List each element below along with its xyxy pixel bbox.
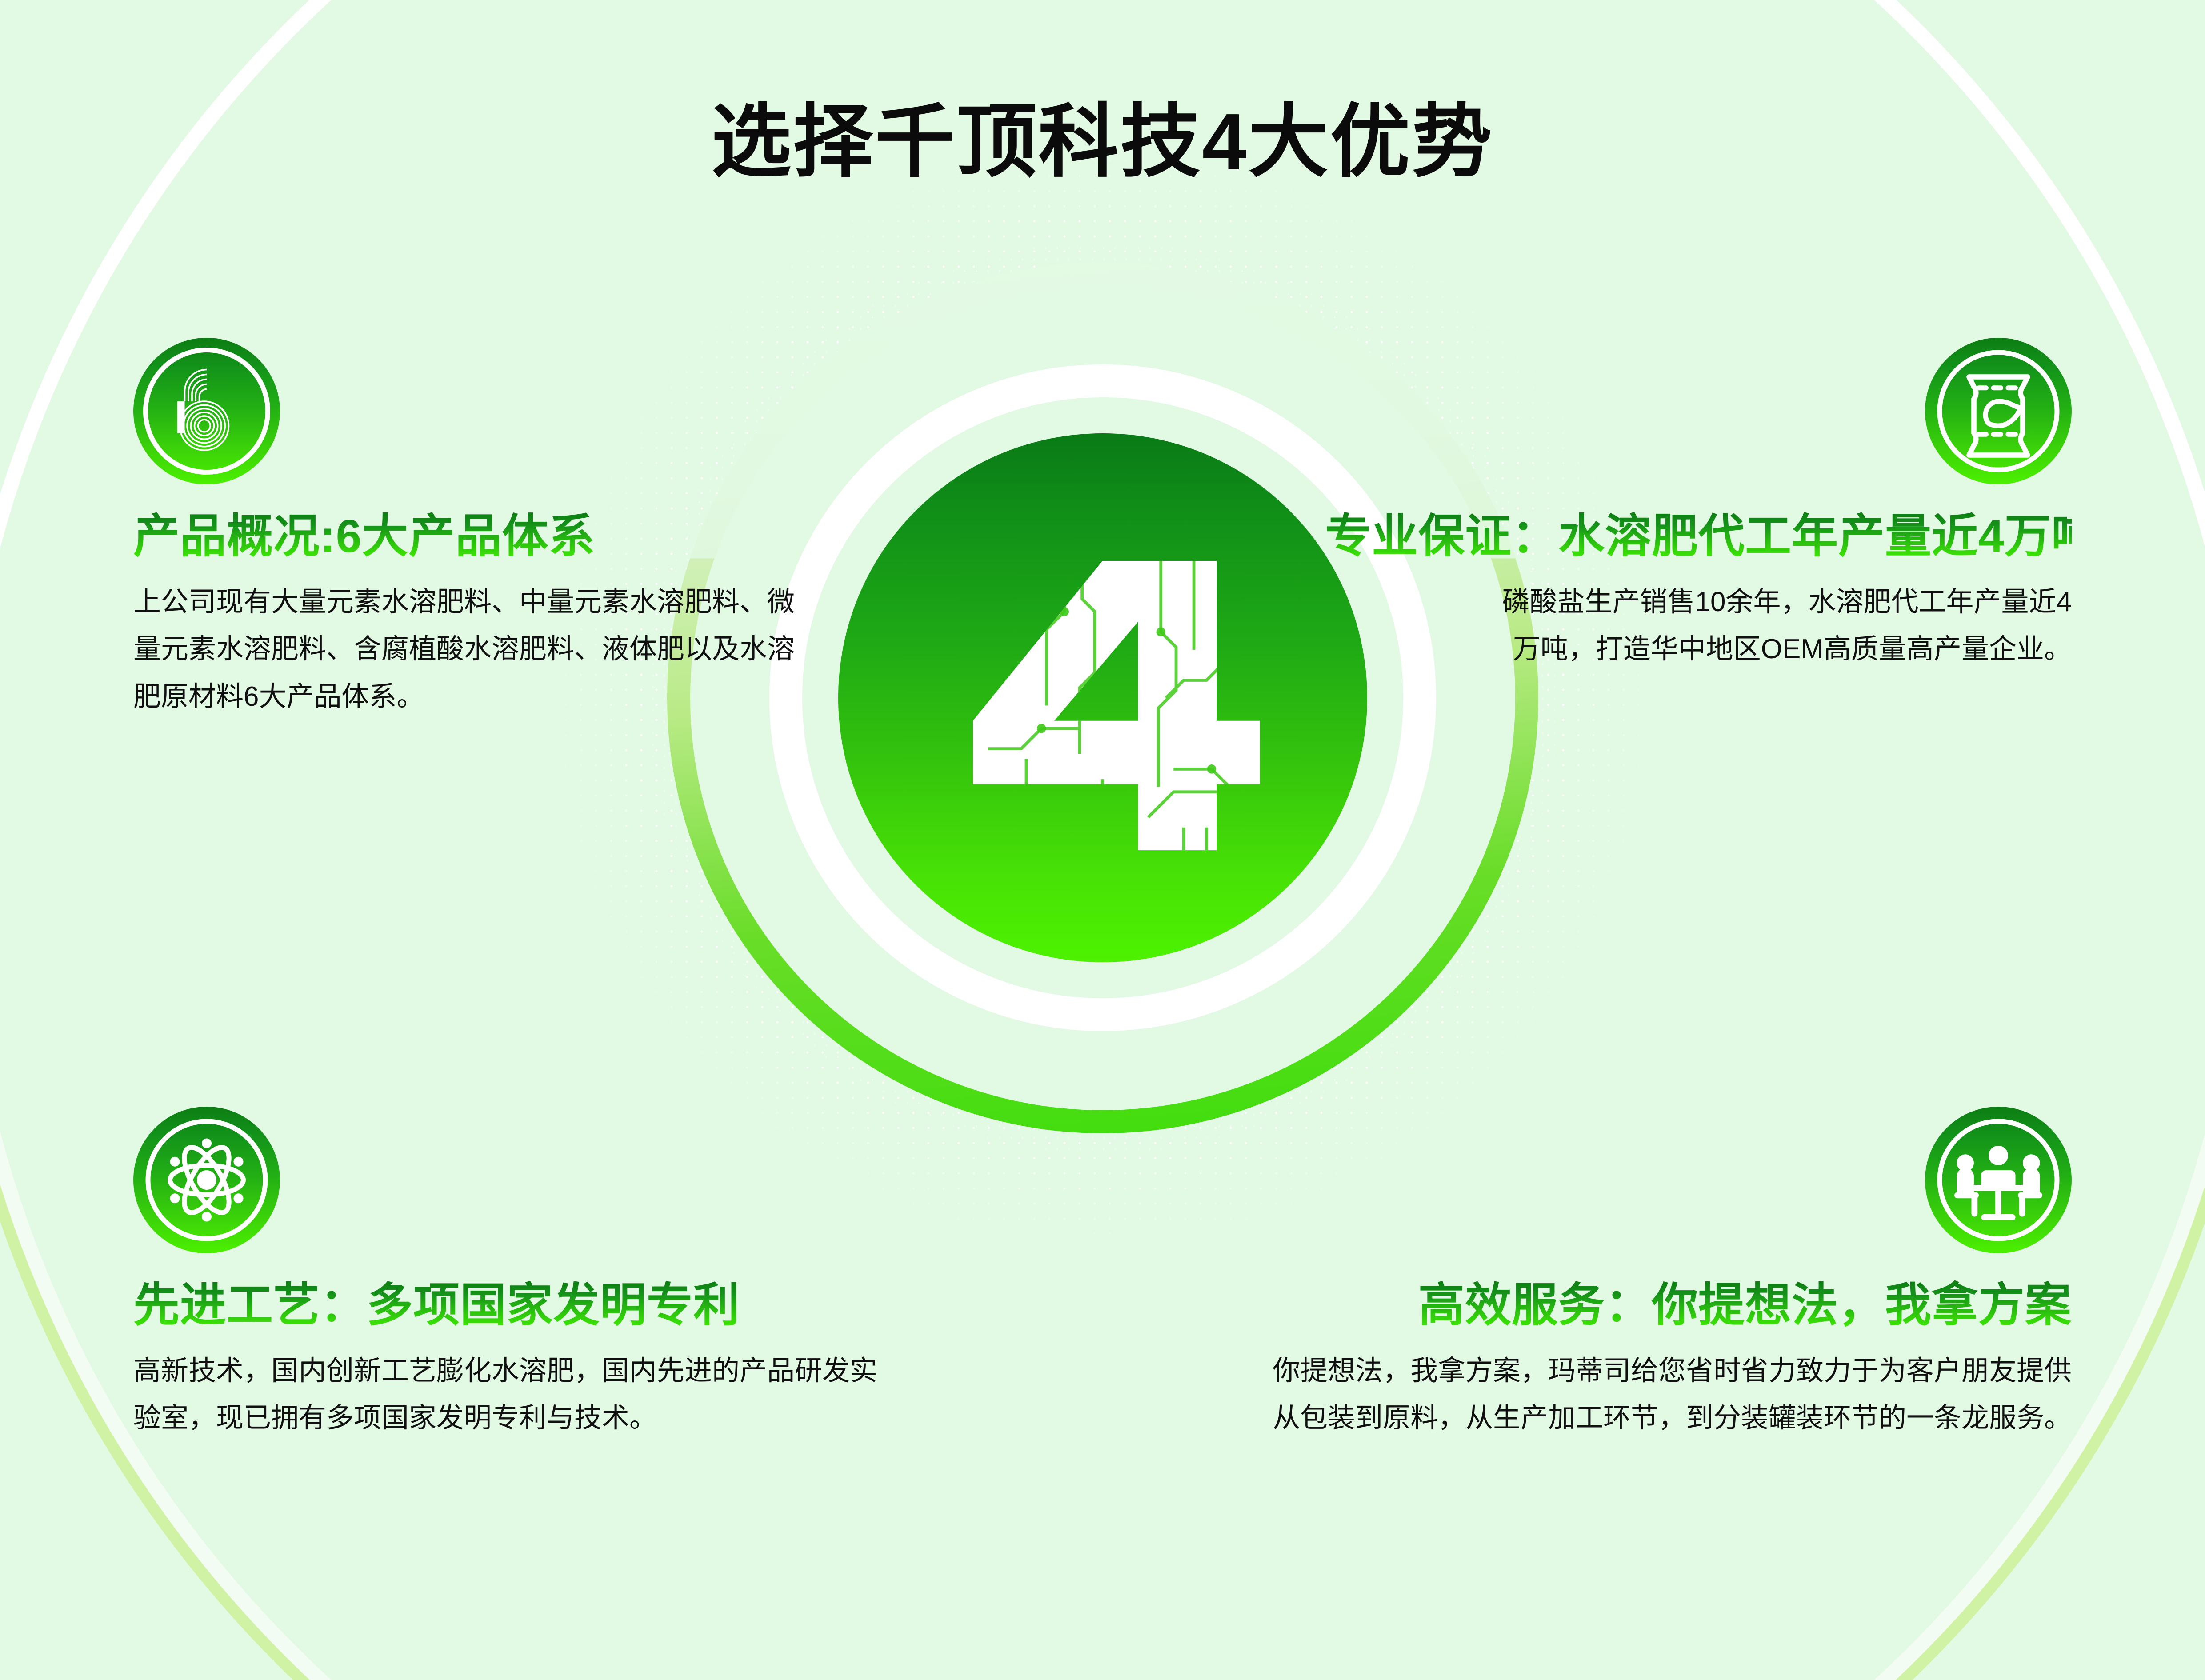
- atom-glyph: [133, 1107, 280, 1253]
- page-title: 选择千顶科技4大优势: [0, 102, 2205, 182]
- fertilizer-bag-icon: [1925, 338, 2072, 484]
- six-rings-glyph: [133, 338, 280, 484]
- feature-heading: 先进工艺：多项国家发明专利: [133, 1279, 889, 1332]
- six-rings-icon: [133, 338, 280, 484]
- feature-body: 高新技术，国内创新工艺膨化水溶肥，国内先进的产品研发实验室，现已拥有多项国家发明…: [133, 1348, 889, 1442]
- feature-block-bottom-right: 高效服务：你提想法，我拿方案 你提想法，我拿方案，玛蒂司给您省时省力致力于为客户…: [1272, 1107, 2072, 1442]
- feature-heading: 高效服务：你提想法，我拿方案: [1272, 1279, 2072, 1332]
- center-number-circle: [838, 433, 1367, 962]
- feature-body: 磷酸盐生产销售10余年，水溶肥代工年产量近4万吨，打造华中地区OEM高质量高产量…: [1481, 579, 2072, 673]
- atom-icon: [133, 1107, 280, 1253]
- meeting-team-glyph: [1925, 1107, 2072, 1253]
- feature-block-top-right: 专业保证：水溶肥代工年产量近4万吨 磷酸盐生产销售10余年，水溶肥代工年产量近4…: [1325, 338, 2072, 673]
- feature-body: 你提想法，我拿方案，玛蒂司给您省时省力致力于为客户朋友提供从包装到原料，从生产加…: [1272, 1348, 2072, 1442]
- feature-block-top-left: 产品概况:6大产品体系 上公司现有大量元素水溶肥料、中量元素水溶肥料、微量元素水…: [133, 338, 813, 721]
- feature-body: 上公司现有大量元素水溶肥料、中量元素水溶肥料、微量元素水溶肥料、含腐植酸水溶肥料…: [133, 579, 813, 721]
- meeting-team-icon: [1925, 1107, 2072, 1253]
- feature-heading: 专业保证：水溶肥代工年产量近4万吨: [1325, 510, 2072, 564]
- number-four-tech-icon: [912, 508, 1293, 888]
- feature-block-bottom-left: 先进工艺：多项国家发明专利 高新技术，国内创新工艺膨化水溶肥，国内先进的产品研发…: [133, 1107, 889, 1442]
- feature-heading: 产品概况:6大产品体系: [133, 510, 813, 564]
- fertilizer-bag-glyph: [1925, 338, 2072, 484]
